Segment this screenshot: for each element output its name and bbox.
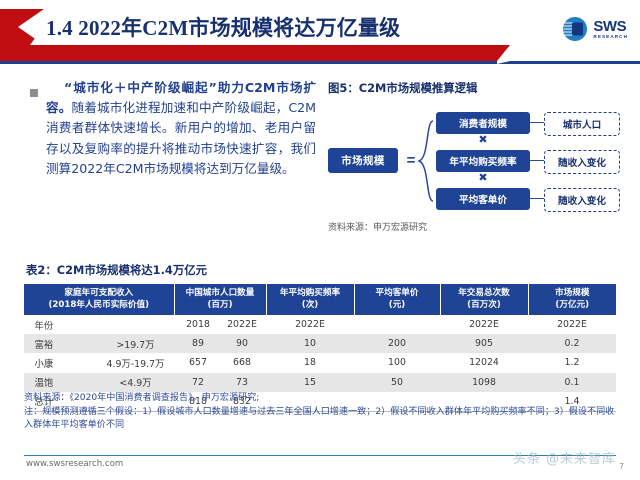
table-col-transactions: 年交易总次数 (百万次)	[440, 284, 528, 315]
diagram-connector-2	[530, 160, 544, 161]
cell: 100	[354, 353, 440, 372]
footer-url: www.swsresearch.com	[26, 459, 123, 469]
cell: 10	[266, 334, 354, 353]
cell: 2022E	[266, 315, 354, 334]
diagram-driver-income-change-2: 随收入变化	[544, 188, 620, 212]
diagram-brace-icon	[418, 120, 434, 202]
cell: 2022E	[440, 315, 528, 334]
table-block: 表2：C2M市场规模将达1.4万亿元 家庭年可支配收入 (2018年人民币实际价…	[24, 262, 616, 412]
cell: 温饱 <4.9万	[24, 373, 174, 392]
cell: 0.2	[528, 334, 616, 353]
table-col-marketsize-l2: (万亿元)	[531, 300, 615, 312]
page-number: 7	[619, 462, 624, 471]
header-blue-rule-right	[497, 61, 640, 64]
figure-block: 图5：C2M市场规模推算逻辑 市场规模 = 消费者规模 年平均购买频率 平均客单…	[326, 80, 626, 250]
diagram-node-average-price: 平均客单价	[436, 188, 530, 210]
cell: 2022E	[528, 315, 616, 334]
cell: 7273	[174, 373, 266, 392]
diagram-driver-urban-population: 城市人口	[544, 112, 620, 136]
figure-title: 图5：C2M市场规模推算逻辑	[328, 80, 626, 96]
diagram-equals-sign: =	[404, 148, 418, 173]
diagram-multiply-icon-2: ✖	[436, 171, 530, 184]
page-title: 1.4 2022年C2M市场规模将达万亿量级	[46, 12, 400, 44]
cell	[354, 315, 440, 334]
table-col-transactions-l1: 年交易总次数	[443, 288, 526, 300]
slide: 1.4 2022年C2M市场规模将达万亿量级 SWS RES	[0, 0, 640, 480]
diagram-node-market-size: 市场规模	[328, 148, 398, 173]
diagram-connector-1	[530, 122, 544, 123]
table-notes: 资料来源：《2020年中国消费者调查报告》，申万宏源研究; 注：规模预测遵循三个…	[24, 392, 618, 433]
diagram-driver-income-change-1: 随收入变化	[544, 150, 620, 174]
table-col-unitprice-l2: (元)	[357, 300, 438, 312]
table-col-frequency-l1: 年平均购买频率	[269, 288, 352, 300]
table-head: 家庭年可支配收入 (2018年人民币实际价值) 中国城市人口数量 (百万) 年平…	[24, 284, 616, 315]
table-col-marketsize-l1: 市场规模	[531, 288, 615, 300]
table-row: 富裕 >19.7万 8990 10 200 905 0.2	[24, 334, 616, 353]
left-text-block: “城市化＋中产阶级崛起”助力C2M市场扩容。随着城市化进程加速和中产阶级崛起，C…	[24, 78, 316, 179]
cell: 12024	[440, 353, 528, 372]
watermark: 头条 @未来智库	[513, 448, 616, 467]
diagram-connector-3	[530, 198, 544, 199]
table-col-frequency: 年平均购买频率 (次)	[266, 284, 354, 315]
cell: 8990	[174, 334, 266, 353]
body-paragraph: “城市化＋中产阶级崛起”助力C2M市场扩容。随着城市化进程加速和中产阶级崛起，C…	[24, 78, 316, 179]
figure-canvas: 市场规模 = 消费者规模 年平均购买频率 平均客单价 ✖ ✖ 城市人口 随收入变…	[326, 100, 626, 230]
slide-header: 1.4 2022年C2M市场规模将达万亿量级 SWS RES	[0, 0, 640, 70]
table-row: 温饱 <4.9万 7273 15 50 1098 0.1	[24, 373, 616, 392]
table-col-transactions-l2: (百万次)	[443, 300, 526, 312]
table-col-marketsize: 市场规模 (万亿元)	[528, 284, 616, 315]
table-col-unitprice: 平均客单价 (元)	[354, 284, 440, 315]
paragraph-rest: 随着城市化进程加速和中产阶级崛起，C2M消费者群体快速增长。新用户的增加、老用户…	[46, 100, 316, 176]
sws-logo-text: SWS RESEARCH	[593, 19, 628, 40]
diagram-node-consumer-scale: 消费者规模	[436, 112, 530, 134]
table-col-frequency-l2: (次)	[269, 300, 352, 312]
cell: 15	[266, 373, 354, 392]
sws-logo: SWS RESEARCH	[562, 14, 628, 44]
table-col-population-l2: (百万)	[177, 300, 264, 312]
cell: 富裕 >19.7万	[24, 334, 174, 353]
notes-source: 资料来源：《2020年中国消费者调查报告》，申万宏源研究;	[24, 392, 618, 406]
cell: 1098	[440, 373, 528, 392]
cell: 20182022E	[174, 315, 266, 334]
notes-assumptions: 注：规模预测遵循三个假设：1）假设城市人口数量增速与过去三年全国人口增速一致；2…	[24, 406, 618, 433]
table-col-income-l1: 家庭年可支配收入	[26, 288, 172, 300]
table-col-income-l2: (2018年人民币实际价值)	[26, 300, 172, 312]
diagram-node-purchase-frequency: 年平均购买频率	[436, 150, 530, 172]
sws-logo-name: SWS	[593, 19, 628, 34]
table-col-unitprice-l1: 平均客单价	[357, 288, 438, 300]
table-header-row: 家庭年可支配收入 (2018年人民币实际价值) 中国城市人口数量 (百万) 年平…	[24, 284, 616, 315]
figure-source: 资料来源：申万宏源研究	[328, 220, 427, 233]
sws-logo-mark-icon	[562, 16, 588, 42]
cell: 小康 4.9万-19.7万	[24, 353, 174, 372]
table-col-population-l1: 中国城市人口数量	[177, 288, 264, 300]
table-col-income: 家庭年可支配收入 (2018年人民币实际价值)	[24, 284, 174, 315]
cell: 年份	[24, 315, 174, 334]
cell: 657668	[174, 353, 266, 372]
cell: 0.1	[528, 373, 616, 392]
diagram-multiply-icon-1: ✖	[436, 133, 530, 146]
table-row: 年份 20182022E 2022E 2022E 2022E	[24, 315, 616, 334]
cell: 1.2	[528, 353, 616, 372]
table-col-population: 中国城市人口数量 (百万)	[174, 284, 266, 315]
table-title: 表2：C2M市场规模将达1.4万亿元	[26, 262, 616, 278]
cell: 905	[440, 334, 528, 353]
cell: 50	[354, 373, 440, 392]
header-blue-rule-left	[0, 61, 497, 64]
table-row: 小康 4.9万-19.7万 657668 18 100 12024 1.2	[24, 353, 616, 372]
cell: 200	[354, 334, 440, 353]
cell: 18	[266, 353, 354, 372]
sws-logo-subtitle: RESEARCH	[593, 35, 628, 40]
